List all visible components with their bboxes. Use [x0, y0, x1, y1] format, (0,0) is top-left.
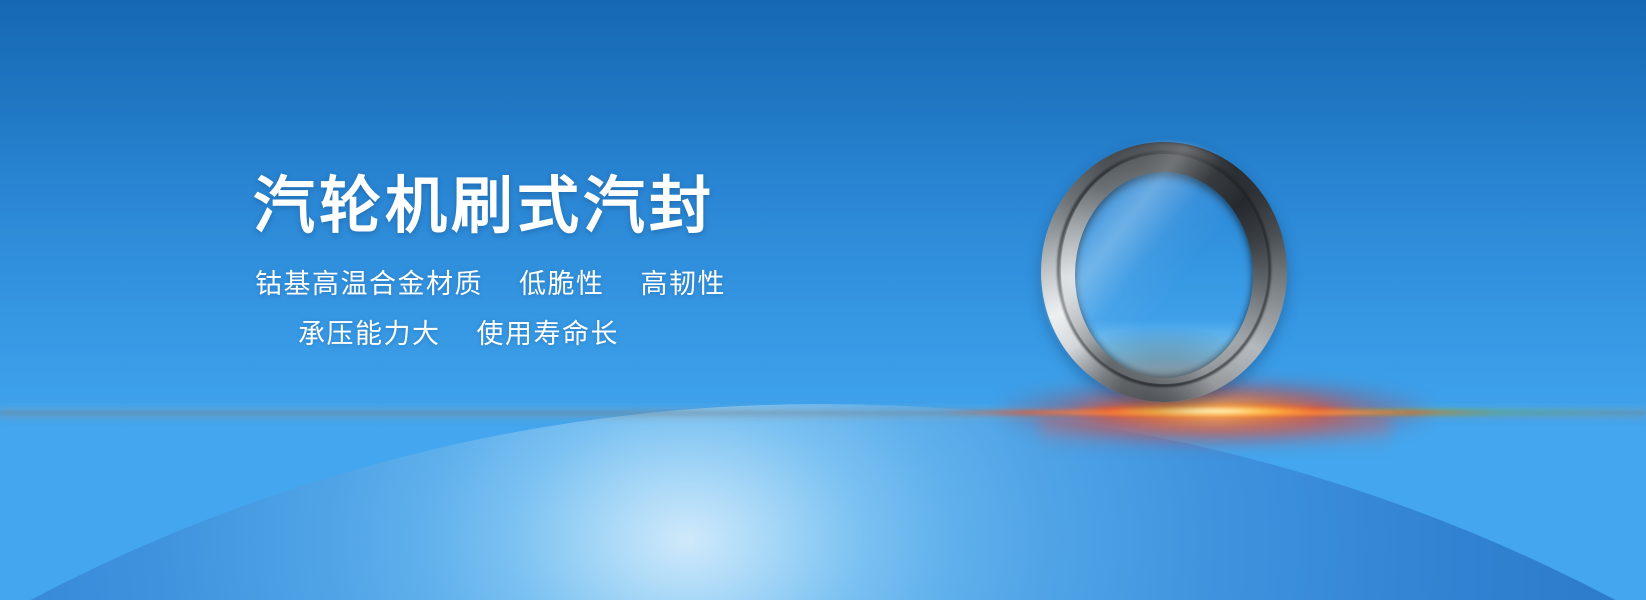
feature-line-1: 钴基高温合金材质 低脆性 高韧性 — [255, 271, 726, 298]
atmosphere-haze — [0, 404, 1646, 600]
feature-line-2: 承压能力大 使用寿命长 — [298, 321, 619, 348]
product-ring-image — [1041, 142, 1287, 402]
ring-bore — [1075, 172, 1253, 378]
ground-reflection-tint — [1270, 408, 1646, 416]
page-title: 汽轮机刷式汽封 — [253, 176, 715, 238]
earth-globe — [0, 404, 1646, 600]
hero-banner: 汽轮机刷式汽封 钴基高温合金材质 低脆性 高韧性 承压能力大 使用寿命长 — [0, 0, 1646, 600]
